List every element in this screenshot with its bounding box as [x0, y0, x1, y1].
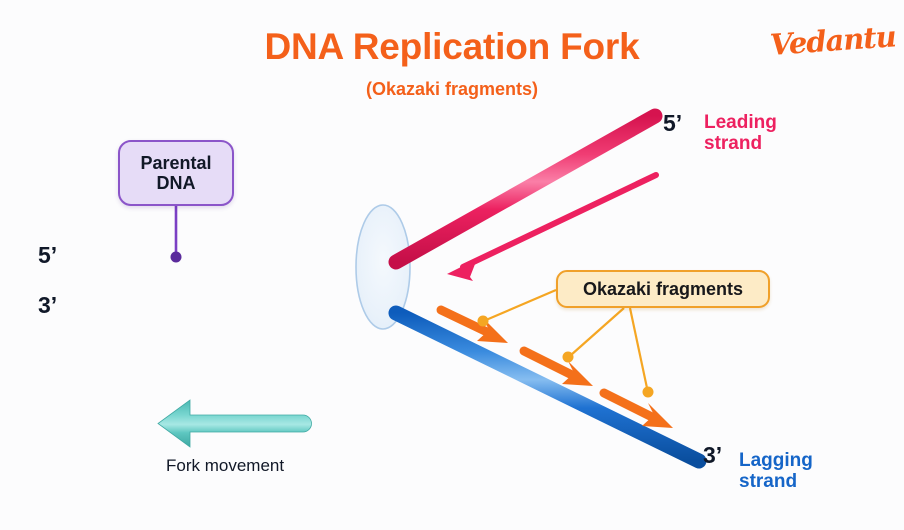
okazaki-leader-1: [478, 290, 557, 327]
vedantu-logo-text: Vedantu: [769, 19, 897, 62]
vedantu-logo[interactable]: Vedantu: [770, 28, 890, 68]
parental-dna-label-text: Parental DNA: [140, 153, 211, 193]
lagging-strand-line: [396, 313, 699, 461]
parental-dna-label-box: Parental DNA: [118, 140, 234, 206]
leading-strand-label: Leading strand: [704, 112, 777, 155]
okazaki-fragments-label-box: Okazaki fragments: [556, 270, 770, 308]
parental-dna-connector: [171, 206, 182, 263]
prime-label-template-top: 5’: [38, 243, 57, 269]
lagging-strand-label: Lagging strand: [739, 450, 813, 493]
okazaki-fragments-label-text: Okazaki fragments: [583, 279, 743, 299]
fork-movement-arrow: [158, 400, 312, 447]
prime-label-leading-strand: 5’: [663, 111, 682, 137]
prime-label-lagging-strand: 3’: [703, 443, 722, 469]
prime-label-template-bottom: 3’: [38, 293, 57, 319]
okazaki-leader-3: [630, 308, 654, 398]
page-subtitle: (Okazaki fragments): [0, 79, 904, 99]
okazaki-leader-2: [563, 308, 625, 363]
leading-synthesis-arrow: [447, 175, 656, 281]
diagram-canvas: DNA Replication Fork (Okazaki fragments)…: [0, 0, 904, 530]
fork-movement-label: Fork movement: [166, 456, 284, 475]
